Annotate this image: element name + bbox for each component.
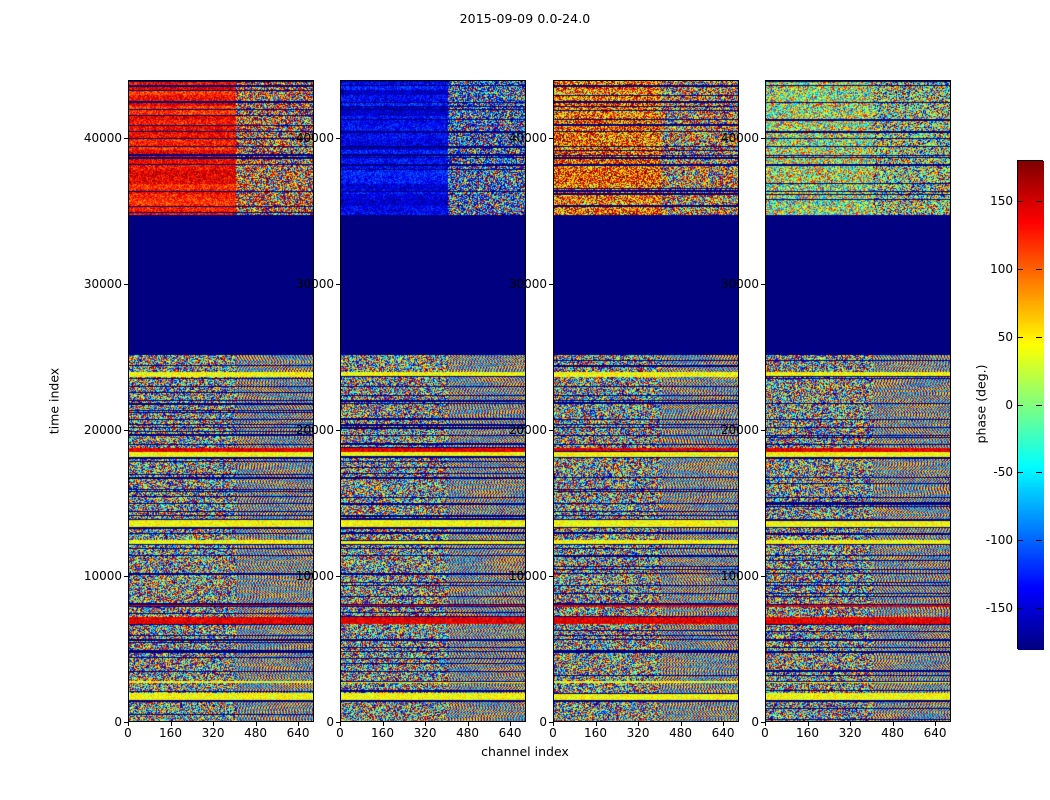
heatmap-yx <box>766 81 951 722</box>
colorbar-tick-mark <box>1017 201 1023 202</box>
x-tick-label: 480 <box>881 726 904 740</box>
y-tick-label: 0 <box>487 715 547 729</box>
colorbar-tick-mark <box>1036 472 1042 473</box>
y-tick-mark <box>549 138 553 139</box>
colorbar-tick-mark <box>1017 472 1023 473</box>
x-tick-label: 320 <box>839 726 862 740</box>
y-tick-mark <box>549 430 553 431</box>
figure-suptitle: 2015-09-09 0.0-24.0 <box>0 11 1050 26</box>
x-tick-label: 0 <box>336 726 344 740</box>
y-tick-label: 40000 <box>487 131 547 145</box>
x-tick-label: 0 <box>549 726 557 740</box>
y-tick-label: 10000 <box>487 569 547 583</box>
y-tick-mark <box>124 576 128 577</box>
x-tick-label: 0 <box>124 726 132 740</box>
y-tick-label: 30000 <box>487 277 547 291</box>
heatmap-xx <box>129 81 314 722</box>
y-tick-mark <box>761 722 765 723</box>
x-tick-label: 160 <box>584 726 607 740</box>
x-tick-label: 480 <box>244 726 267 740</box>
colorbar-tick-mark <box>1036 608 1042 609</box>
colorbar-tick-mark <box>1017 337 1023 338</box>
y-tick-label: 40000 <box>62 131 122 145</box>
panel-xy[interactable]: XY, BL V4*V6 <box>553 80 739 722</box>
colorbar-tick-label: 50 <box>998 330 1013 344</box>
panel-xx[interactable]: XX, BL V4*V6 <box>128 80 314 722</box>
y-tick-mark <box>124 722 128 723</box>
x-tick-label: 160 <box>159 726 182 740</box>
x-tick-label: 0 <box>761 726 769 740</box>
y-tick-label: 40000 <box>274 131 334 145</box>
colorbar-tick-label: 100 <box>990 262 1013 276</box>
y-tick-mark <box>336 284 340 285</box>
colorbar-tick-mark <box>1017 608 1023 609</box>
colorbar-tick-mark <box>1036 201 1042 202</box>
colorbar-gradient <box>1018 161 1044 650</box>
y-tick-label: 30000 <box>274 277 334 291</box>
y-axis-label: time index <box>47 368 62 434</box>
colorbar-tick-mark <box>1036 337 1042 338</box>
colorbar-label: phase (deg.) <box>974 365 989 444</box>
colorbar-tick-label: -100 <box>986 533 1013 547</box>
panel-yy[interactable]: YY, BL V4*V6 <box>340 80 526 722</box>
y-tick-mark <box>336 138 340 139</box>
y-tick-label: 0 <box>699 715 759 729</box>
y-tick-label: 30000 <box>62 277 122 291</box>
y-tick-mark <box>549 576 553 577</box>
colorbar-tick-mark <box>1036 540 1042 541</box>
y-tick-mark <box>549 722 553 723</box>
y-tick-label: 10000 <box>62 569 122 583</box>
x-tick-label: 480 <box>669 726 692 740</box>
y-tick-mark <box>124 430 128 431</box>
y-tick-label: 20000 <box>699 423 759 437</box>
heatmap-xy <box>554 81 739 722</box>
y-tick-label: 0 <box>274 715 334 729</box>
colorbar-tick-mark <box>1017 405 1023 406</box>
y-tick-mark <box>761 284 765 285</box>
y-tick-label: 10000 <box>274 569 334 583</box>
colorbar-tick-mark <box>1036 269 1042 270</box>
x-tick-label: 640 <box>924 726 947 740</box>
x-tick-label: 160 <box>796 726 819 740</box>
x-tick-label: 320 <box>202 726 225 740</box>
y-tick-mark <box>336 722 340 723</box>
y-tick-label: 20000 <box>62 423 122 437</box>
x-tick-label: 320 <box>627 726 650 740</box>
y-tick-mark <box>761 430 765 431</box>
y-tick-mark <box>761 138 765 139</box>
colorbar-tick-mark <box>1017 540 1023 541</box>
colorbar-tick-label: 150 <box>990 194 1013 208</box>
y-tick-label: 30000 <box>699 277 759 291</box>
x-tick-label: 320 <box>414 726 437 740</box>
y-tick-mark <box>124 138 128 139</box>
x-tick-label: 160 <box>371 726 394 740</box>
panel-yx[interactable]: YX, BL V4*V6 <box>765 80 951 722</box>
colorbar-tick-mark <box>1017 269 1023 270</box>
colorbar-tick-label: -150 <box>986 601 1013 615</box>
y-tick-label: 20000 <box>274 423 334 437</box>
heatmap-yy <box>341 81 526 722</box>
y-tick-label: 10000 <box>699 569 759 583</box>
y-tick-mark <box>761 576 765 577</box>
y-tick-label: 0 <box>62 715 122 729</box>
x-axis-label: channel index <box>0 744 1050 759</box>
colorbar-tick-label: 0 <box>1005 398 1013 412</box>
x-tick-label: 480 <box>456 726 479 740</box>
y-tick-mark <box>549 284 553 285</box>
y-tick-mark <box>336 430 340 431</box>
figure-canvas: 2015-09-09 0.0-24.0 XX, BL V4*V6 YY, BL … <box>0 0 1050 800</box>
colorbar-tick-mark <box>1036 405 1042 406</box>
y-tick-label: 20000 <box>487 423 547 437</box>
colorbar-tick-label: -50 <box>993 465 1013 479</box>
y-tick-label: 40000 <box>699 131 759 145</box>
y-tick-mark <box>336 576 340 577</box>
y-tick-mark <box>124 284 128 285</box>
